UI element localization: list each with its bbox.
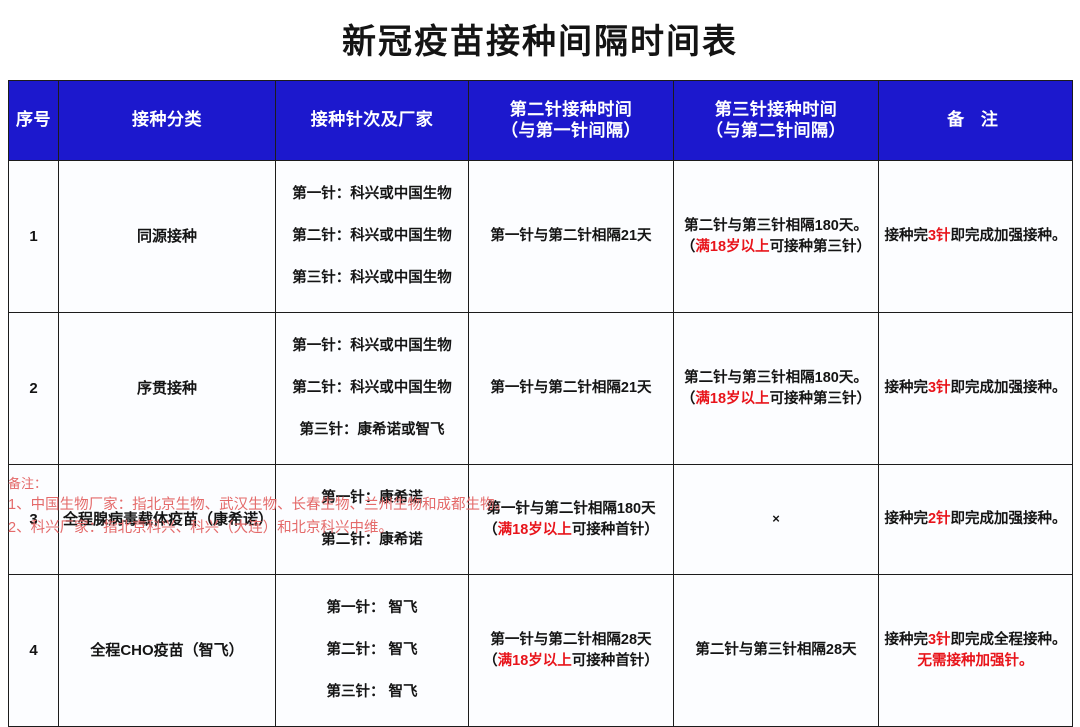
column-header-dose2-time-label: 第二针接种时间 [473,100,669,120]
dose3-time-line1: 第二针与第三针相隔28天 [678,640,874,661]
row-category: 全程CHO疫苗（智飞） [59,575,276,727]
vaccine-interval-table-page: 新冠疫苗接种间隔时间表 序号 接种分类 [0,0,1080,540]
row-remark: 接种完3针即完成全程接种。 无需接种加强针。 [879,575,1073,727]
table-row: 2 序贯接种 第一针：科兴或中国生物 第二针：科兴或中国生物 第三针：康希诺或智… [9,313,1073,465]
dose3-time-line2: （满18岁以上可接种第三针） [678,237,874,258]
remark-line1: 接种完3针即完成全程接种。 [883,630,1068,651]
dose2-time-line2-suffix: 可接种首针） [572,653,659,669]
row-index: 1 [9,161,59,313]
dose3-time-line2-prefix: （ [681,391,696,407]
remark-prefix: 接种完 [884,380,928,396]
column-header-remark-label: 备 注 [883,110,1068,130]
row-dose2-time: 第一针与第二针相隔21天 [469,161,674,313]
dose2-time-line2-highlight: 满18岁以上 [498,653,572,669]
remark-highlight: 3针 [928,228,951,244]
column-header-dose2-time-sub: （与第一针间隔） [473,121,669,141]
row-doses: 第一针：科兴或中国生物 第二针：科兴或中国生物 第三针：科兴或中国生物 [276,161,469,313]
dose-line: 第二针：科兴或中国生物 [280,378,464,399]
dose3-time-line2-suffix: 可接种第三针） [770,239,872,255]
column-header-doses-label: 接种针次及厂家 [280,110,464,130]
table-body: 1 同源接种 第一针：科兴或中国生物 第二针：科兴或中国生物 第三针：科兴或中国… [9,161,1073,727]
table-row: 1 同源接种 第一针：科兴或中国生物 第二针：科兴或中国生物 第三针：科兴或中国… [9,161,1073,313]
dose-line: 第三针：康希诺或智飞 [280,420,464,441]
column-header-doses: 接种针次及厂家 [276,81,469,161]
header-row: 序号 接种分类 接种针次及厂家 第二针接种时间 （与第一针间隔） 第三针接种时间 [9,81,1073,161]
column-header-dose2-time: 第二针接种时间 （与第一针间隔） [469,81,674,161]
remark-prefix: 接种完 [884,632,928,648]
row-dose3-time: 第二针与第三针相隔180天。 （满18岁以上可接种第三针） [674,161,879,313]
row-dose2-time: 第一针与第二针相隔28天 （满18岁以上可接种首针） [469,575,674,727]
dose-line: 第二针： 智飞 [280,640,464,661]
remark-suffix: 即完成加强接种。 [951,380,1067,396]
dose3-time-line2-highlight: 满18岁以上 [695,391,769,407]
remark-suffix: 即完成加强接种。 [951,228,1067,244]
remark-highlight: 3针 [928,380,951,396]
dose-line: 第三针：科兴或中国生物 [280,268,464,289]
dose2-time-line2-prefix: （ [483,653,498,669]
dose-line: 第一针：科兴或中国生物 [280,336,464,357]
dose3-time-line2: （满18岁以上可接种第三针） [678,389,874,410]
row-dose3-time: 第二针与第三针相隔180天。 （满18岁以上可接种第三针） [674,313,879,465]
row-remark: 接种完3针即完成加强接种。 [879,161,1073,313]
row-dose3-time: 第二针与第三针相隔28天 [674,575,879,727]
dose2-time-line1: 第一针与第二针相隔28天 [473,630,669,651]
row-doses: 第一针： 智飞 第二针： 智飞 第三针： 智飞 [276,575,469,727]
remark-line1: 接种完3针即完成加强接种。 [883,226,1068,247]
table-container: 序号 接种分类 接种针次及厂家 第二针接种时间 （与第一针间隔） 第三针接种时间 [8,80,1072,727]
row-index: 4 [9,575,59,727]
remark-line2: 无需接种加强针。 [883,651,1068,672]
remark-highlight: 3针 [928,632,951,648]
row-doses: 第一针：科兴或中国生物 第二针：科兴或中国生物 第三针：康希诺或智飞 [276,313,469,465]
row-remark: 接种完3针即完成加强接种。 [879,313,1073,465]
column-header-dose3-time-label: 第三针接种时间 [678,100,874,120]
dose2-time-line2: （满18岁以上可接种首针） [473,651,669,672]
remark-suffix: 即完成全程接种。 [951,632,1067,648]
dose3-time-line2-prefix: （ [681,239,696,255]
vaccination-interval-table: 序号 接种分类 接种针次及厂家 第二针接种时间 （与第一针间隔） 第三针接种时间 [8,80,1073,727]
column-header-index-label: 序号 [13,110,54,130]
row-index: 2 [9,313,59,465]
row-category: 序贯接种 [59,313,276,465]
table-row: 4 全程CHO疫苗（智飞） 第一针： 智飞 第二针： 智飞 第三针： 智飞 第一… [9,575,1073,727]
dose3-time-line2-suffix: 可接种第三针） [770,391,872,407]
dose3-time-line1: 第二针与第三针相隔180天。 [678,216,874,237]
footnotes-heading: 备注： [8,474,1068,494]
dose-line: 第三针： 智飞 [280,682,464,703]
dose3-time-line2-highlight: 满18岁以上 [695,239,769,255]
dose3-time-line1: 第二针与第三针相隔180天。 [678,368,874,389]
column-header-remark: 备 注 [879,81,1073,161]
footnote-item: 1、中国生物厂家：指北京生物、武汉生物、长春生物、兰州生物和成都生物。 [8,494,1068,516]
row-dose2-time: 第一针与第二针相隔21天 [469,313,674,465]
column-header-category: 接种分类 [59,81,276,161]
table-header: 序号 接种分类 接种针次及厂家 第二针接种时间 （与第一针间隔） 第三针接种时间 [9,81,1073,161]
footnotes: 备注： 1、中国生物厂家：指北京生物、武汉生物、长春生物、兰州生物和成都生物。 … [8,474,1068,539]
row-category: 同源接种 [59,161,276,313]
dose-line: 第二针：科兴或中国生物 [280,226,464,247]
dose-line: 第一针：科兴或中国生物 [280,184,464,205]
dose2-time-line1: 第一针与第二针相隔21天 [473,226,669,247]
column-header-dose3-time-sub: （与第二针间隔） [678,121,874,141]
remark-prefix: 接种完 [884,228,928,244]
remark-line1: 接种完3针即完成加强接种。 [883,378,1068,399]
dose-line: 第一针： 智飞 [280,598,464,619]
footnote-item: 2、科兴厂家：指北京科兴、科兴（大连）和北京科兴中维。 [8,517,1068,539]
column-header-index: 序号 [9,81,59,161]
column-header-category-label: 接种分类 [63,110,271,130]
column-header-dose3-time: 第三针接种时间 （与第二针间隔） [674,81,879,161]
dose2-time-line1: 第一针与第二针相隔21天 [473,378,669,399]
page-title: 新冠疫苗接种间隔时间表 [0,14,1080,63]
